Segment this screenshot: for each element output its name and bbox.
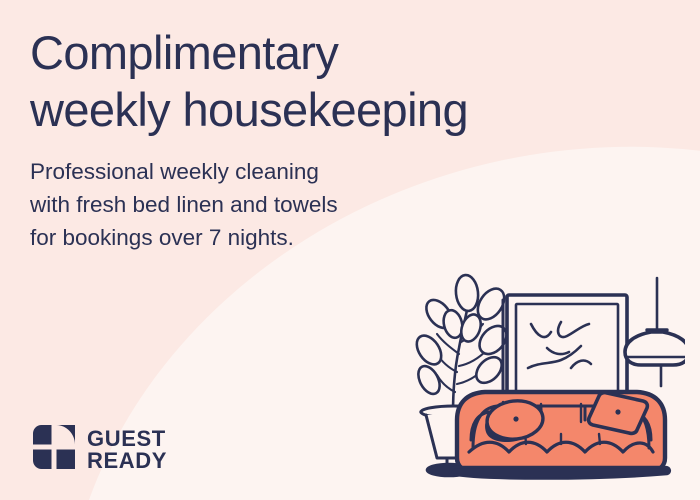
guest-ready-mark-icon <box>32 424 76 475</box>
living-room-illustration <box>385 262 685 487</box>
sofa-icon <box>450 392 670 479</box>
subcopy: Professional weekly cleaning with fresh … <box>30 155 630 254</box>
pendant-lamp-icon <box>625 278 685 386</box>
logo-line-2: READY <box>87 450 167 472</box>
guest-ready-logo[interactable]: GUEST READY <box>32 424 167 475</box>
promo-card: Complimentary weekly housekeeping Profes… <box>0 0 700 500</box>
text-block: Complimentary weekly housekeeping Profes… <box>30 24 630 254</box>
page-title: Complimentary weekly housekeeping <box>30 24 630 139</box>
guest-ready-wordmark: GUEST READY <box>87 428 167 472</box>
logo-line-1: GUEST <box>87 428 167 450</box>
